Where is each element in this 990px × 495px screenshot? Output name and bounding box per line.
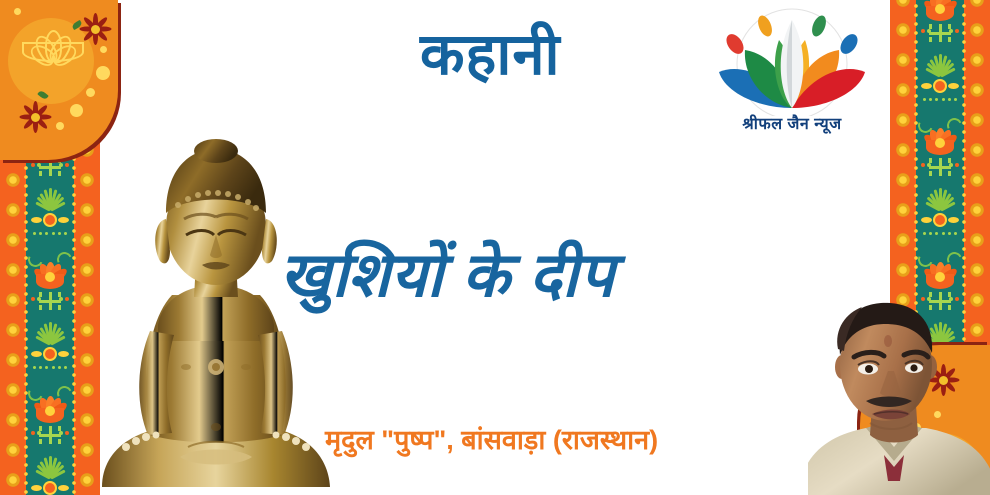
border-motif-unit [916, 0, 964, 114]
shreephal-jain-news-logo[interactable]: श्रीफल जैन न्यूज [712, 4, 872, 150]
border-dot-triplets [26, 366, 74, 372]
border-sunburst-fan-icon [30, 318, 70, 344]
border-motif-unit [916, 114, 964, 248]
page-title: खुशियों के दीप [280, 243, 615, 308]
border-leaf-band [916, 214, 964, 226]
border-leaf-band [26, 214, 74, 226]
border-side-dots [26, 429, 74, 437]
corner-dot-icon [14, 8, 21, 15]
border-side-dots [26, 161, 74, 169]
jain-tirthankara-statue [96, 135, 336, 495]
corner-dot-icon [70, 104, 83, 117]
border-sunburst-fan-icon [30, 184, 70, 210]
corner-red-flower-icon-2 [18, 100, 52, 134]
border-sunburst-fan-icon [920, 184, 960, 210]
border-dot-triplets [26, 232, 74, 238]
corner-red-flower-icon-1 [78, 12, 112, 46]
lotus-logo-icon [713, 4, 871, 116]
border-motif-unit [26, 382, 74, 495]
poster-canvas: श्रीफल जैन न्यूज कहानी खुशियों के दीप मृ… [0, 0, 990, 495]
author-byline: मृदुल "पुष्प", बांसवाड़ा (राजस्थान) [325, 420, 658, 457]
border-sunburst-fan-icon [920, 50, 960, 76]
corner-dot-icon [96, 66, 110, 80]
border-motif-unit [26, 248, 74, 382]
border-leaf-band [26, 482, 74, 494]
border-side-dots [916, 161, 964, 169]
corner-dot-icon [56, 122, 64, 130]
corner-dot-icon [86, 88, 95, 97]
border-leaf-band [26, 348, 74, 360]
border-lotus-icon [921, 0, 959, 14]
border-side-dots [26, 295, 74, 303]
author-portrait [808, 295, 990, 495]
border-side-dots [916, 27, 964, 35]
border-dot-triplets [916, 232, 964, 238]
corner-lotus-icon [20, 44, 82, 78]
border-dot-triplets [916, 98, 964, 104]
corner-dot-icon [100, 46, 107, 53]
border-sunburst-fan-icon [30, 452, 70, 478]
kicker-label: कहानी [420, 26, 561, 84]
border-leaf-band [916, 80, 964, 92]
